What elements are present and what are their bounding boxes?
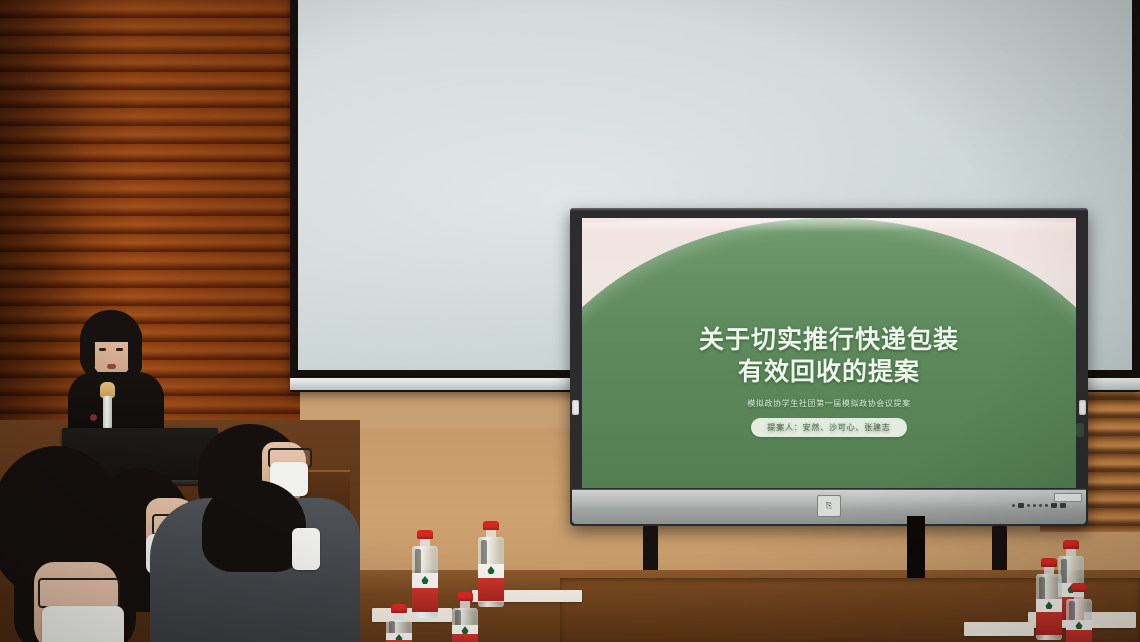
bottle-shading bbox=[389, 621, 395, 633]
slide-proposers-pill: 提案人：安然、沙可心、张建志 bbox=[751, 418, 906, 437]
slide-subtitle: 模拟政协学生社团第一届模拟政协会议提案 bbox=[582, 398, 1076, 409]
bottle-cap bbox=[391, 604, 407, 613]
bottle-shading bbox=[455, 610, 461, 626]
water-bottle[interactable] bbox=[386, 604, 412, 642]
bottle-label-red bbox=[1066, 630, 1092, 642]
bottle-label-white bbox=[386, 633, 412, 640]
port-indicator-dot bbox=[1027, 504, 1030, 507]
bottle-neck bbox=[1066, 549, 1076, 556]
paper-sheet bbox=[964, 622, 1034, 636]
bottle-cap bbox=[417, 530, 433, 539]
audience-face-mask bbox=[292, 528, 320, 570]
water-bottle[interactable] bbox=[412, 530, 438, 618]
bottle-label-white bbox=[412, 573, 438, 587]
display-label-tag bbox=[1054, 493, 1082, 502]
slide-title-line-1: 关于切实推行快递包装 bbox=[582, 324, 1076, 356]
bottle-cap bbox=[1071, 583, 1087, 592]
bottle-shading bbox=[1039, 577, 1045, 601]
slide-title-line-2: 有效回收的提案 bbox=[582, 356, 1076, 388]
audience-head bbox=[202, 480, 306, 572]
bottle-neck bbox=[1044, 567, 1054, 574]
bottle-body bbox=[452, 608, 478, 642]
bottle-label-red bbox=[1036, 612, 1062, 634]
bottle-shading bbox=[415, 549, 421, 575]
bottle-neck bbox=[460, 601, 470, 608]
interactive-flat-panel-display[interactable]: 关于切实推行快递包装 有效回收的提案 模拟政协学生社团第一届模拟政协会议提案 提… bbox=[570, 208, 1088, 526]
microphone-body bbox=[103, 396, 112, 432]
port-slot[interactable] bbox=[1051, 503, 1057, 508]
display-control-ports[interactable] bbox=[1012, 503, 1066, 508]
bottle-neck bbox=[1074, 592, 1084, 599]
display-brand-logo: ⎘ bbox=[817, 495, 841, 517]
bottle-cap bbox=[1041, 558, 1057, 567]
presenter-hair-left bbox=[82, 328, 95, 372]
slide-text-block: 关于切实推行快递包装 有效回收的提案 模拟政协学生社团第一届模拟政协会议提案 提… bbox=[582, 324, 1076, 437]
port-indicator-dot bbox=[1045, 504, 1048, 507]
bottle-label-red bbox=[452, 634, 478, 642]
water-bottle[interactable] bbox=[452, 592, 478, 642]
port-indicator-dot bbox=[1039, 504, 1042, 507]
bottle-body bbox=[386, 620, 412, 642]
display-screen[interactable]: 关于切实推行快递包装 有效回收的提案 模拟政协学生社团第一届模拟政协会议提案 提… bbox=[582, 218, 1076, 488]
presenter-hair-right bbox=[128, 328, 142, 374]
port-indicator-dot bbox=[1012, 504, 1015, 507]
audience-face-mask bbox=[42, 606, 124, 642]
audience-member bbox=[14, 526, 136, 642]
bottle-label-red bbox=[412, 588, 438, 613]
bottle-shading bbox=[481, 540, 487, 565]
bottle-cap bbox=[1063, 540, 1079, 549]
bottle-body bbox=[1066, 599, 1092, 642]
display-base-bar: ⎘ bbox=[572, 489, 1086, 524]
conference-room-scene: 关于切实推行快递包装 有效回收的提案 模拟政协学生社团第一届模拟政协会议提案 提… bbox=[0, 0, 1140, 642]
display-side-button-right[interactable] bbox=[1079, 400, 1086, 415]
presenter-lapel-pin bbox=[90, 414, 97, 421]
bottle-label-white bbox=[1066, 620, 1092, 631]
water-bottle[interactable] bbox=[1036, 558, 1062, 640]
presenter-eye-left bbox=[99, 348, 106, 351]
display-side-port[interactable] bbox=[1076, 423, 1084, 437]
presenter-mouth bbox=[107, 364, 116, 369]
bottle-label-white bbox=[478, 564, 504, 578]
port-slot[interactable] bbox=[1018, 503, 1024, 508]
water-bottle[interactable] bbox=[478, 521, 504, 607]
port-indicator-dot bbox=[1033, 504, 1036, 507]
bottle-body bbox=[1036, 574, 1062, 640]
water-bottle[interactable] bbox=[1066, 583, 1092, 642]
bottle-shading bbox=[1069, 601, 1075, 620]
bottle-label-white bbox=[452, 625, 478, 634]
bottle-cap bbox=[483, 521, 499, 530]
bottle-label-white bbox=[1036, 599, 1062, 612]
bottle-cap bbox=[457, 592, 473, 601]
bottle-body bbox=[412, 546, 438, 618]
bottle-neck bbox=[394, 613, 404, 620]
bottle-neck bbox=[486, 530, 496, 537]
port-slot[interactable] bbox=[1060, 503, 1066, 508]
bottle-body bbox=[478, 537, 504, 607]
display-side-button-left[interactable] bbox=[572, 400, 579, 415]
presenter-eye-right bbox=[116, 348, 123, 351]
bottle-neck bbox=[420, 539, 430, 546]
audience-glasses bbox=[38, 578, 120, 608]
table-gap bbox=[907, 516, 925, 578]
bottle-label-red bbox=[478, 578, 504, 602]
